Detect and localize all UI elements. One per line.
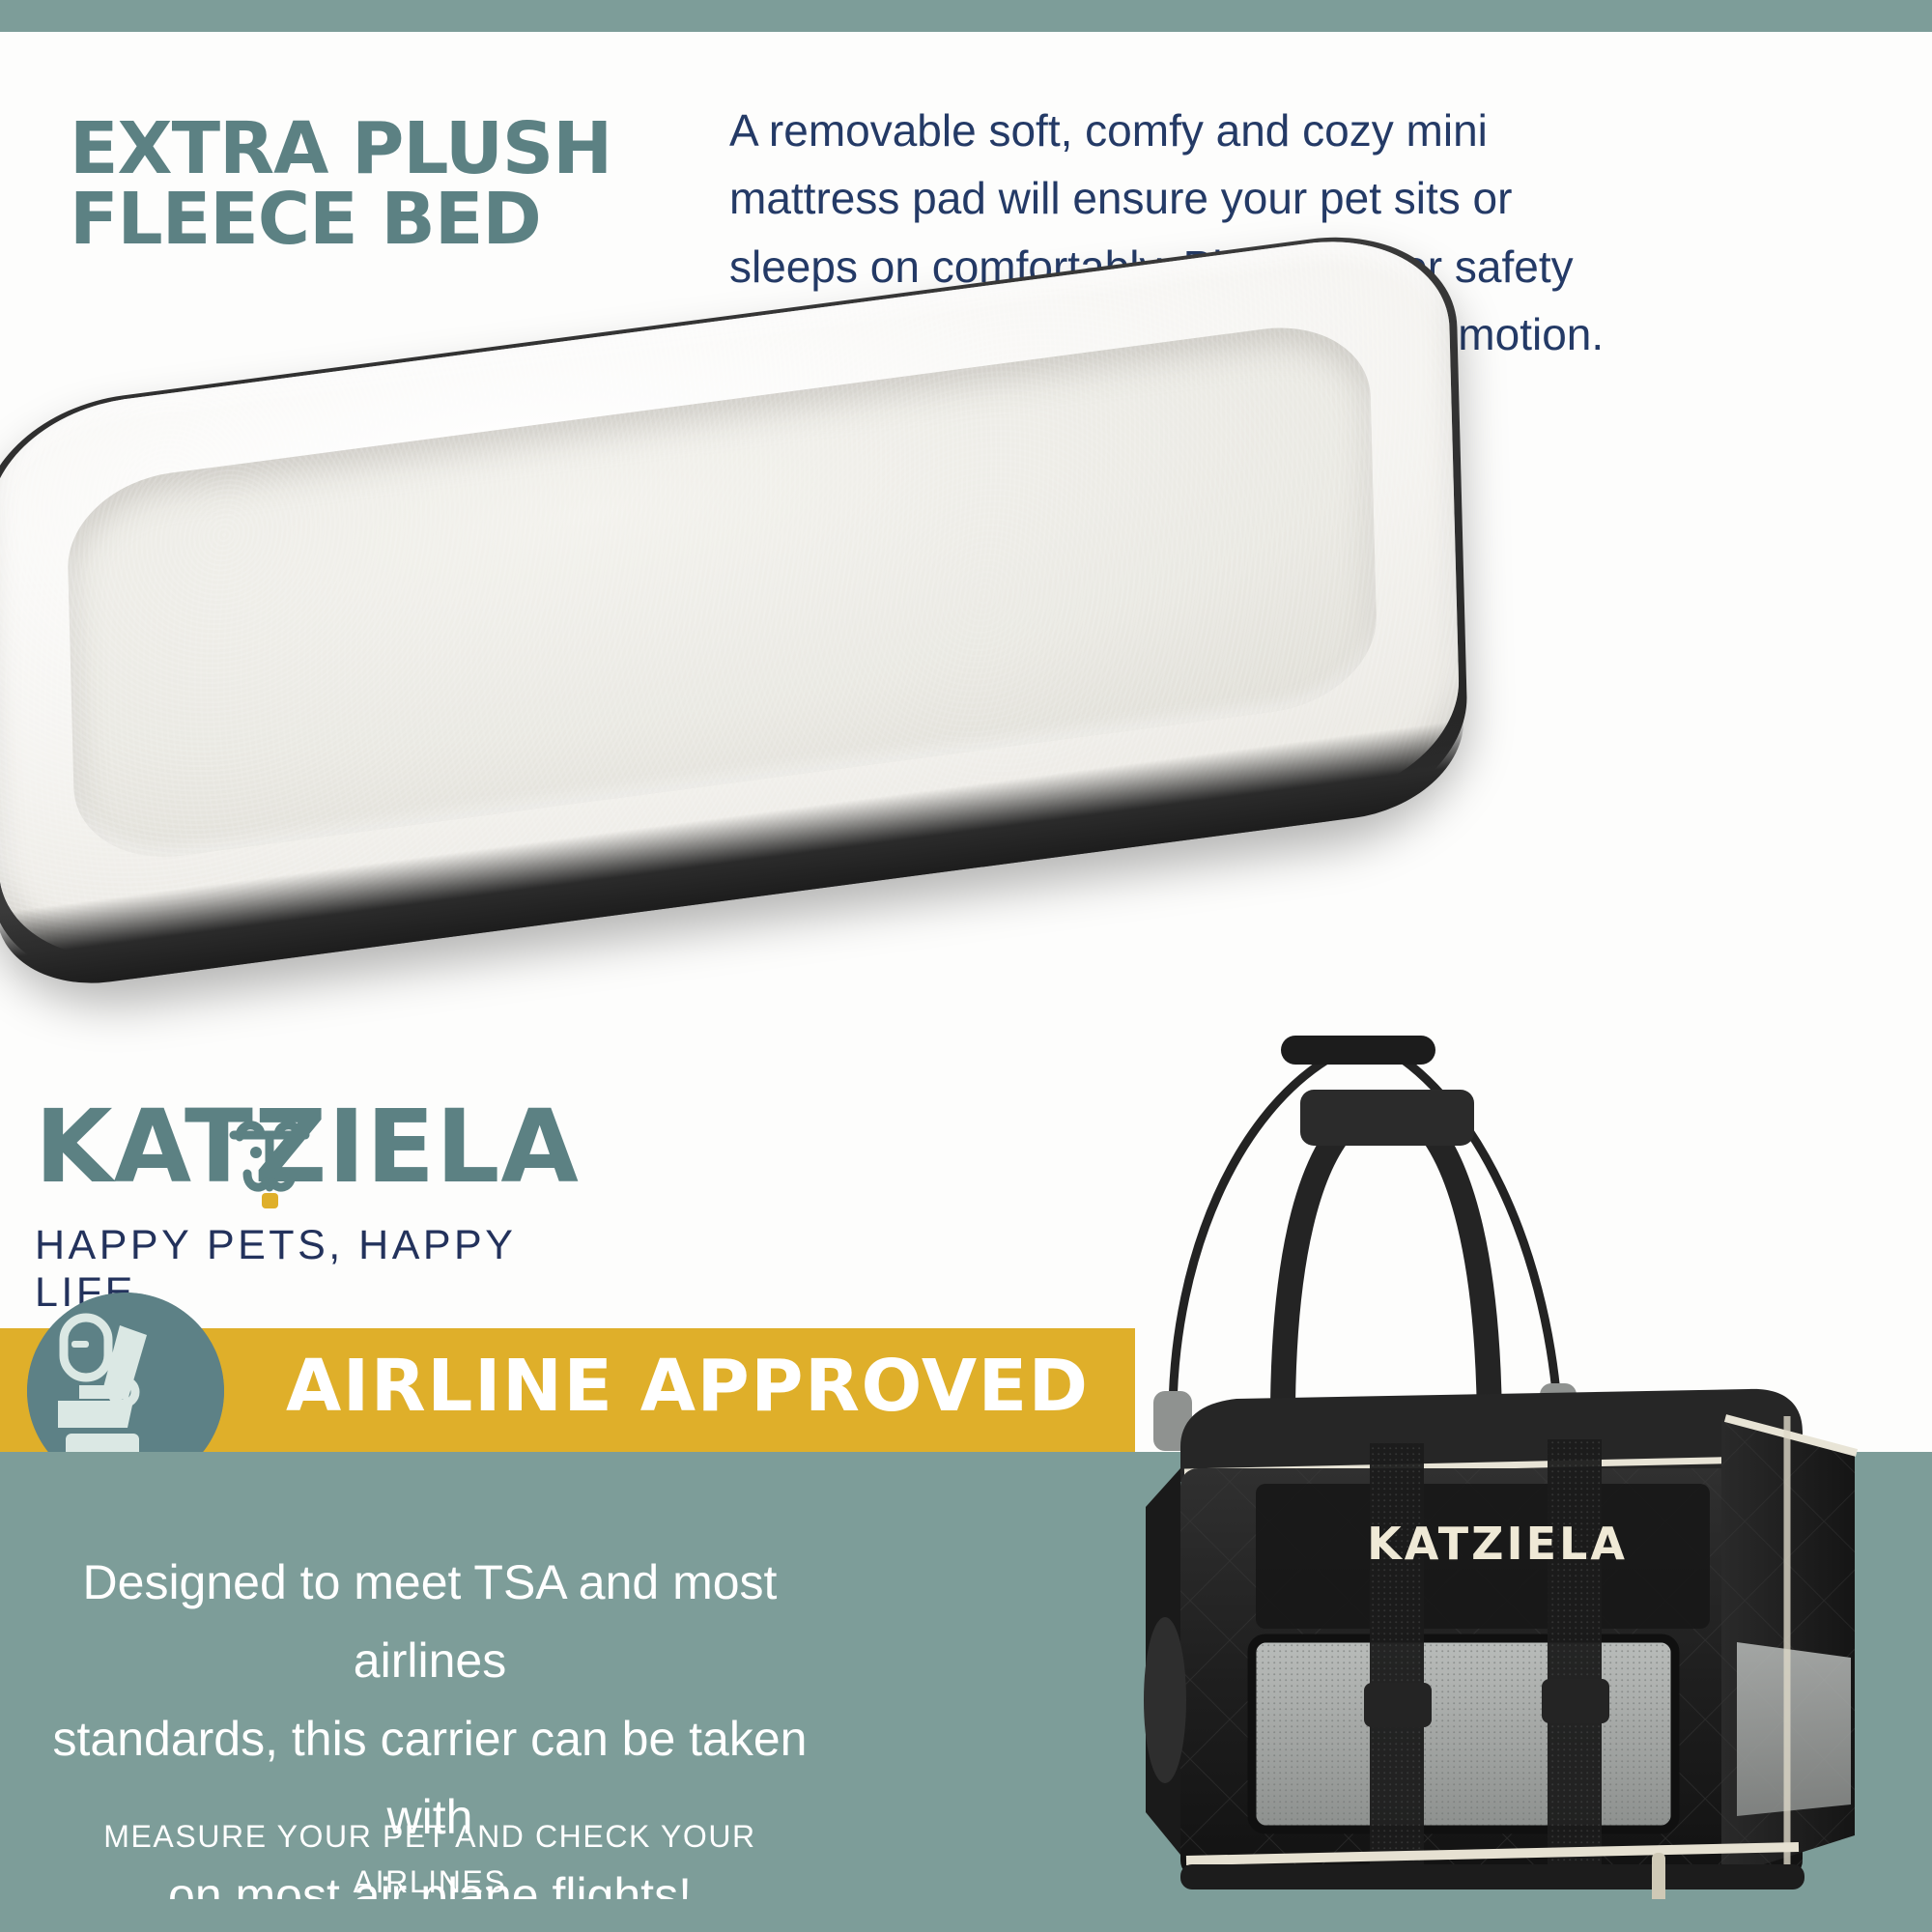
carrier-bag-body bbox=[1144, 1389, 1857, 1905]
airline-copy-line-1: Designed to meet TSA and most airlines bbox=[39, 1544, 821, 1700]
bag-brand-label: KATZIELA bbox=[1367, 1518, 1628, 1570]
page-title-line-2: FLEECE BED bbox=[70, 185, 707, 255]
side-pocket-mesh bbox=[1144, 1617, 1186, 1783]
webbing-keeper-left bbox=[1364, 1683, 1432, 1727]
side-mesh-window bbox=[1737, 1642, 1851, 1816]
carry-handles bbox=[1283, 1117, 1490, 1439]
airline-disclaimer-line-1: MEASURE YOUR PET AND CHECK YOUR AIRLINES bbox=[39, 1814, 821, 1906]
product-image-carrier-bag: KATZIELA bbox=[1111, 966, 1884, 1913]
intro-line-2: mattress pad will ensure your pet sits o… bbox=[729, 164, 1932, 232]
page-title: EXTRA PLUSH FLEECE BED bbox=[70, 114, 707, 254]
cat-face-icon bbox=[224, 1112, 315, 1212]
brand-wordmark-row: KATZIELA bbox=[35, 1096, 576, 1212]
brand-logo: KATZIELA HAPPY PETS, HAPPY bbox=[35, 1096, 576, 1317]
airline-approved-label: AIRLINE APPROVED bbox=[286, 1345, 1090, 1428]
top-accent-bar bbox=[0, 0, 1932, 32]
bottom-accent-bar bbox=[0, 1899, 1932, 1932]
infographic-page: EXTRA PLUSH FLEECE BED A removable soft,… bbox=[0, 0, 1932, 1932]
handle-grip-wrap bbox=[1300, 1090, 1474, 1146]
zipper-pull bbox=[1652, 1853, 1665, 1905]
product-image-fleece-bed bbox=[0, 319, 1488, 918]
fleece-bed-illustration bbox=[0, 220, 1469, 997]
shoulder-pad bbox=[1281, 1036, 1435, 1065]
webbing-keeper-right bbox=[1542, 1679, 1609, 1723]
intro-line-1: A removable soft, comfy and cozy mini bbox=[729, 97, 1932, 164]
